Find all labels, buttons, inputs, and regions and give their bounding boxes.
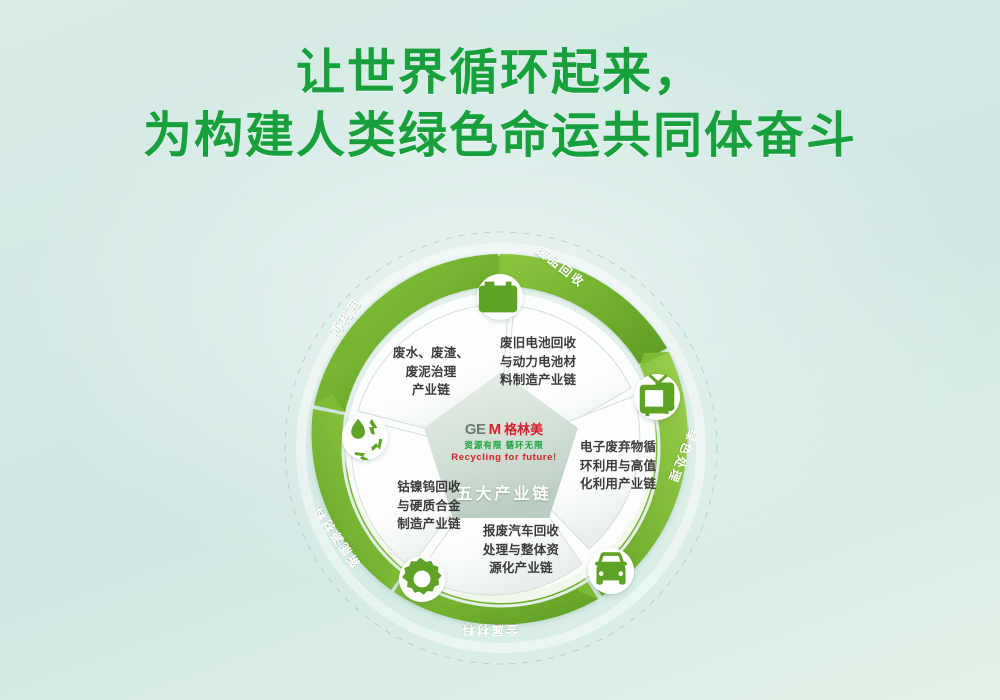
badge-gear[interactable]	[399, 556, 445, 602]
car-icon	[588, 548, 634, 594]
poster-canvas: 让世界循环起来， 为构建人类绿色命运共同体奋斗	[0, 0, 1000, 700]
ring-label-metal: 金属材料	[460, 622, 518, 639]
badge-battery[interactable]	[477, 274, 523, 320]
headline-line-1: 让世界循环起来，	[0, 42, 1000, 105]
gear-icon	[399, 556, 445, 602]
center-subtitle: 五大产业链	[434, 480, 574, 504]
badge-car[interactable]	[588, 548, 634, 594]
page-title: 让世界循环起来， 为构建人类绿色命运共同体奋斗	[0, 42, 1000, 167]
logo-slogan-cn: 资源有限 循环无限	[442, 439, 566, 451]
logo-chinese-text: 格林美	[504, 423, 543, 436]
television-icon	[634, 374, 680, 420]
chain-label-car: 报废汽车回收 处理与整体资 源化产业链	[462, 522, 580, 578]
logo-wordmark: GEM 格林美	[442, 422, 566, 437]
chain-label-water: 废水、废渣、 废泥治理 产业链	[372, 344, 490, 400]
recycle-water-icon	[342, 414, 388, 460]
logo-slogan-en: Recycling for future!	[442, 452, 566, 463]
chain-label-battery: 废旧电池回收 与动力电池材 料制造产业链	[500, 334, 612, 390]
logo-latin-text: GE	[465, 422, 486, 437]
badge-television[interactable]	[634, 374, 680, 420]
badge-recycle-water[interactable]	[342, 414, 388, 460]
car-battery-icon	[477, 274, 523, 320]
gem-logo: GEM 格林美 资源有限 循环无限 Recycling for future!	[442, 422, 566, 463]
logo-m-mark: M	[489, 422, 502, 437]
circular-economy-diagram: 废旧电池回收 与动力电池材 料制造产业链 废水、废渣、 废泥治理 产业链 电子废…	[282, 222, 720, 674]
headline-line-2: 为构建人类绿色命运共同体奋斗	[0, 105, 1000, 168]
